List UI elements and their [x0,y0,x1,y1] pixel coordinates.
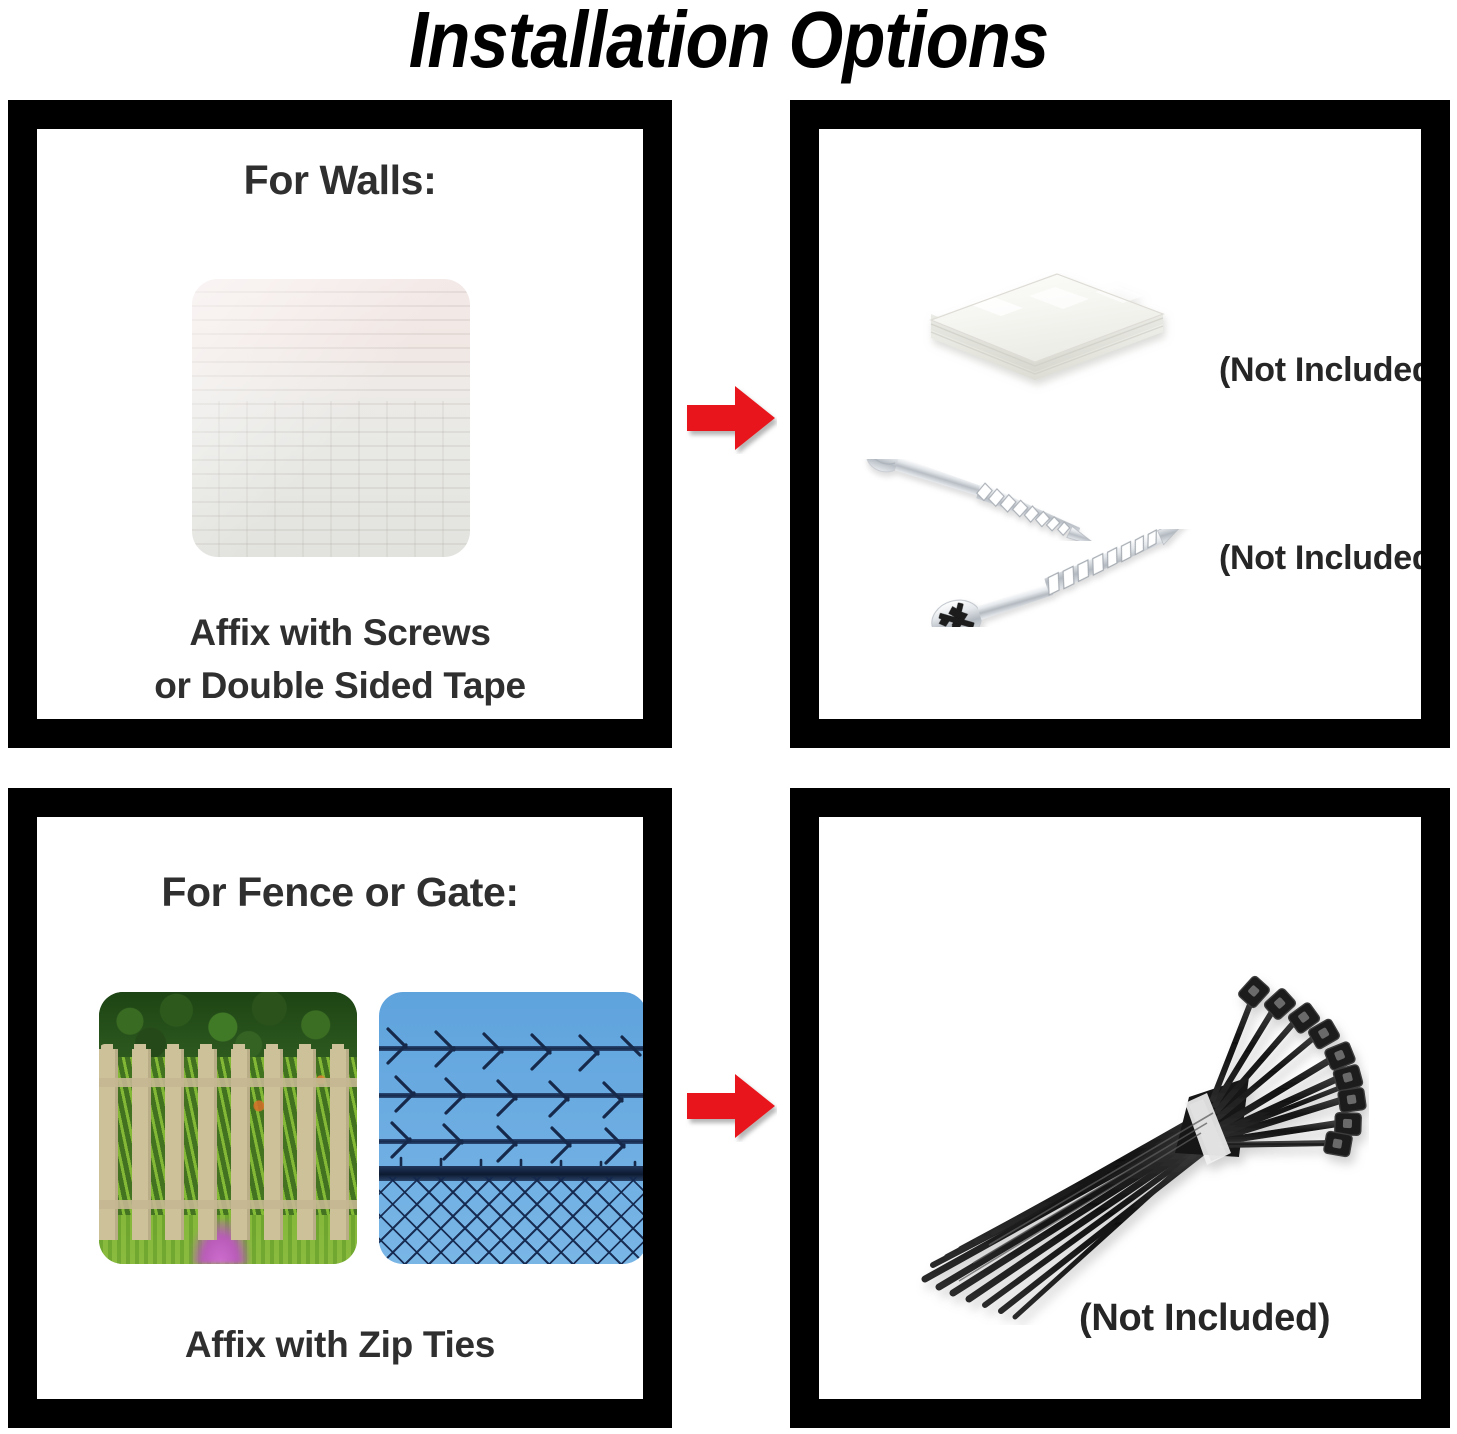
white-brick-wall-swatch [192,279,470,557]
panel-for-walls-heading: For Walls: [37,157,643,204]
swatch-sheen [192,279,470,557]
red-right-arrow-icon-top [685,382,777,454]
fence-pickets [99,1049,357,1239]
double-sided-tape-stack [917,252,1185,404]
black-zip-tie-bundle [889,927,1369,1325]
installation-options-infographic: Installation Options For Walls: Affix wi… [0,0,1457,1434]
zip-ties-not-included-label: (Not Included) [1079,1297,1330,1340]
red-right-arrow-icon-bottom [685,1070,777,1142]
wooden-picket-fence-photo [99,992,357,1264]
panel-zip-ties: (Not Included) [790,788,1450,1428]
chain-link-mesh [379,1177,643,1264]
wood-screw-bottom-phillips [919,529,1211,627]
panel-for-fence-heading: For Fence or Gate: [37,869,643,916]
panel-for-fence-or-gate: For Fence or Gate: [8,788,672,1428]
tape-not-included-label: (Not Included) [1219,351,1421,390]
barbed-wire-chain-link-fence-photo [379,992,643,1264]
picket-tops [99,1044,357,1060]
panel-for-walls-caption-line1: Affix with Screws [37,607,643,660]
panel-for-walls: For Walls: Affix with Screws or Double S… [8,100,672,748]
screws-not-included-label: (Not Included) [1219,539,1421,578]
panel-hardware: (Not Included) [790,100,1450,748]
panel-for-fence-caption: Affix with Zip Ties [37,1319,643,1372]
panel-for-walls-caption-line2: or Double Sided Tape [37,660,643,713]
page-title: Installation Options [87,0,1369,86]
